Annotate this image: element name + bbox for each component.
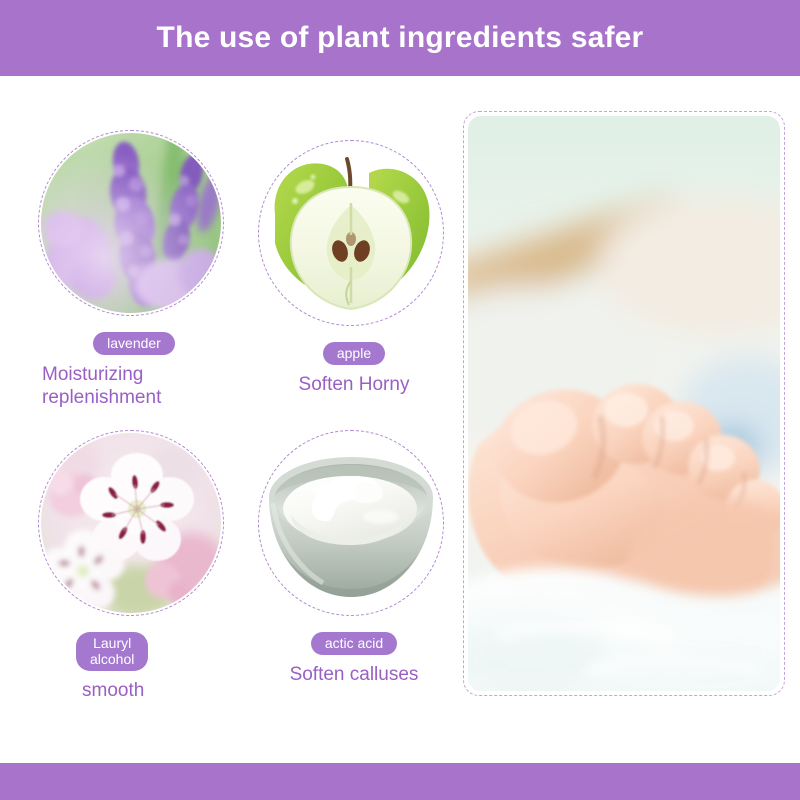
ingredient-caption-lavender: Moisturizing replenishment: [30, 363, 230, 409]
pill-row: actic acid: [250, 632, 450, 655]
ingredient-caption-apple: Soften Horny: [250, 373, 450, 396]
feature-photo-panel: [463, 111, 785, 696]
ingredient-pill-lavender: lavender: [93, 332, 175, 355]
footer-band: [0, 763, 800, 800]
ingredient-caption-actic-acid: Soften calluses: [250, 663, 450, 686]
ingredient-image-lavender: [38, 130, 224, 316]
dashed-ring: [258, 430, 444, 616]
baby-feet-photo: [468, 116, 780, 691]
ingredient-pill-actic-acid: actic acid: [311, 632, 397, 655]
dashed-ring: [38, 430, 224, 616]
ingredient-pill-apple: apple: [323, 342, 385, 365]
pill-row: lavender: [30, 332, 230, 355]
ingredient-image-apple: [258, 140, 444, 326]
ingredient-card-lauryl-alcohol: Lauryl alcohol smooth: [30, 430, 230, 702]
pill-row: apple: [250, 342, 450, 365]
dashed-ring: [38, 130, 224, 316]
header-banner: The use of plant ingredients safer: [0, 0, 800, 76]
ingredient-image-actic-acid: [258, 430, 444, 616]
ingredient-card-actic-acid: actic acid Soften calluses: [250, 430, 450, 686]
dashed-ring: [258, 140, 444, 326]
page-title: The use of plant ingredients safer: [157, 21, 644, 55]
ingredient-card-lavender: lavender Moisturizing replenishment: [30, 130, 230, 409]
ingredient-pill-lauryl-alcohol: Lauryl alcohol: [76, 632, 148, 671]
ingredient-caption-lauryl-alcohol: smooth: [30, 679, 230, 702]
ingredient-grid: lavender Moisturizing replenishment: [30, 130, 450, 730]
ingredient-card-apple: apple Soften Horny: [250, 140, 450, 396]
ingredient-image-lauryl-alcohol: [38, 430, 224, 616]
pill-row: Lauryl alcohol: [30, 632, 230, 671]
product-infographic: The use of plant ingredients safer: [0, 0, 800, 800]
